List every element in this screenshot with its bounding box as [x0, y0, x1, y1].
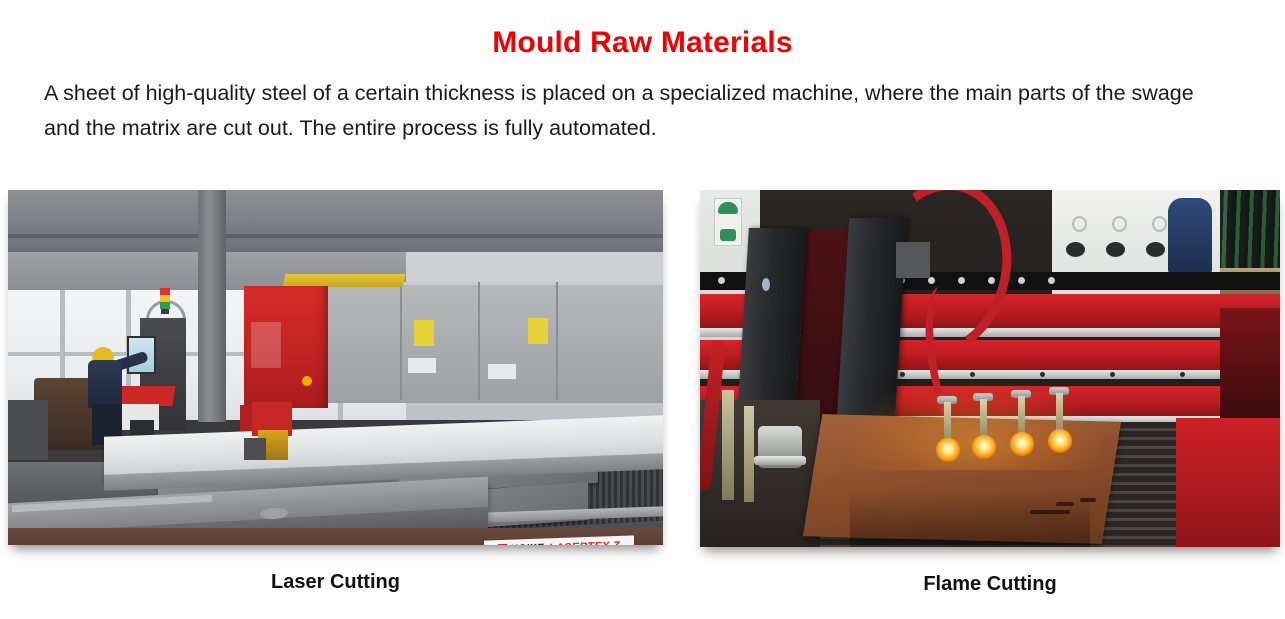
cutting-flame: [972, 435, 996, 459]
cabinet-knob: [1106, 242, 1125, 257]
rail-bolt: [1180, 372, 1185, 377]
worker-body: [88, 360, 122, 408]
panel-latch: [762, 278, 770, 291]
cutting-flame: [1010, 432, 1034, 456]
figure-row: KOIKE LASERTEX Z Laser Cutting: [0, 190, 1285, 610]
koike-logo-icon: [498, 543, 507, 545]
page-root: Mould Raw Materials A sheet of high-qual…: [0, 0, 1285, 619]
cutting-flame: [1048, 429, 1072, 453]
cabinet-gauge-icon: [1152, 216, 1167, 232]
indicator-lamp: [302, 376, 312, 386]
brand-name: KOIKE: [511, 542, 545, 545]
rail-bolt: [1110, 372, 1115, 377]
photo-flame-cutting: [700, 190, 1280, 547]
bolt: [1048, 277, 1055, 284]
beacon-red-icon: [160, 288, 170, 295]
bolt: [718, 277, 725, 284]
beacon-green-icon: [160, 302, 170, 309]
cabinet-seam: [556, 282, 558, 400]
beacon-yellow-icon: [160, 295, 170, 302]
cabinet-seam: [478, 282, 480, 400]
photo-laser-cutting: KOIKE LASERTEX Z: [8, 190, 663, 545]
cabinet-gauge-icon: [1112, 216, 1127, 232]
background-worker: [1168, 198, 1212, 274]
table-shadow: [850, 490, 1090, 547]
cabinet-knob: [1146, 242, 1165, 257]
console-monitor: [130, 420, 154, 436]
warning-label: [414, 320, 434, 346]
caption-laser-cutting: Laser Cutting: [8, 571, 663, 594]
figure-flame-cutting: Flame Cutting: [700, 190, 1280, 596]
rail-bolt: [1040, 372, 1045, 377]
cabinet-gauge-icon: [1072, 216, 1087, 232]
rail-bolt: [900, 372, 905, 377]
model-name: LASERTEX Z: [549, 539, 620, 545]
cabinet-access-panel: [251, 322, 281, 368]
wall-sign: [714, 198, 742, 246]
bolt: [1018, 277, 1025, 284]
cutting-head-mount: [244, 438, 266, 460]
figure-laser-cutting: KOIKE LASERTEX Z Laser Cutting: [8, 190, 663, 594]
caption-flame-cutting: Flame Cutting: [700, 573, 1280, 596]
canister-band: [754, 456, 806, 465]
console-red-panel: [119, 386, 176, 406]
torch-carriage: [744, 406, 754, 502]
torch-carriage: [722, 390, 734, 500]
table-left-section: [700, 400, 820, 547]
machine-label: [488, 364, 516, 379]
page-title: Mould Raw Materials: [0, 26, 1285, 60]
ceiling: [8, 190, 663, 252]
machine-body-shadow: [1220, 308, 1280, 418]
floor-equipment: [8, 400, 48, 460]
structural-column: [198, 190, 226, 422]
cabinet-seam: [400, 282, 402, 400]
machine-label: [408, 358, 436, 373]
cutting-flame: [936, 438, 960, 462]
machine-red-body: [1176, 418, 1280, 547]
warning-label: [528, 318, 548, 344]
intro-paragraph: A sheet of high-quality steel of a certa…: [44, 76, 1204, 146]
machine-cabinet-bank: [308, 282, 663, 403]
cabinet-knob: [1066, 242, 1085, 257]
